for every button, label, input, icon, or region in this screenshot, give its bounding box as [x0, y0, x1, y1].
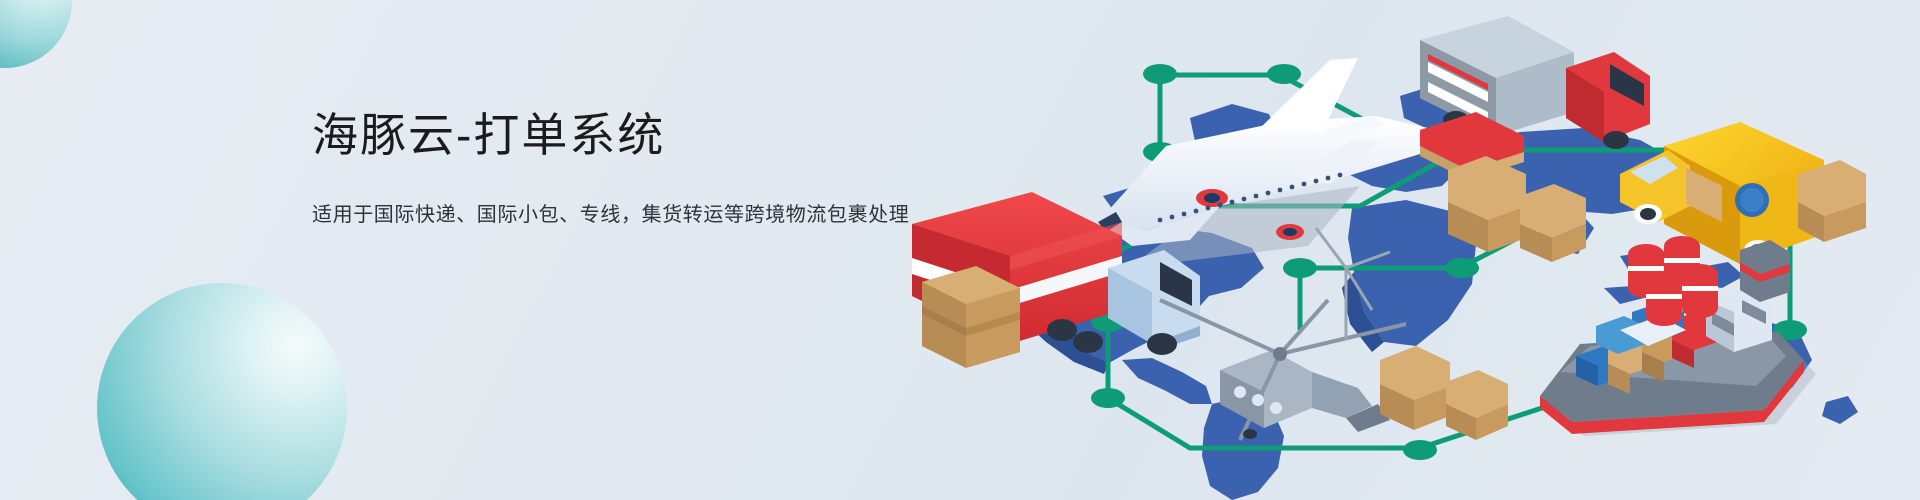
- decorative-circle-top-left: [0, 0, 72, 68]
- banner-headline: 海豚云-打单系统: [312, 108, 932, 162]
- promo-banner: 海豚云-打单系统 适用于国际快递、国际小包、专线，集货转运等跨境物流包裹处理: [0, 0, 1920, 500]
- cardboard-boxes-icon: [1380, 346, 1508, 440]
- decorative-circle-bottom-left: [97, 283, 347, 500]
- logistics-illustration: [860, 0, 1920, 500]
- banner-text-block: 海豚云-打单系统 适用于国际快递、国际小包、专线，集货转运等跨境物流包裹处理: [312, 108, 932, 230]
- banner-subheadline: 适用于国际快递、国际小包、专线，集货转运等跨境物流包裹处理: [312, 200, 932, 230]
- delivery-van-yellow-icon: [1620, 122, 1866, 264]
- cardboard-boxes-icon: [922, 266, 1020, 368]
